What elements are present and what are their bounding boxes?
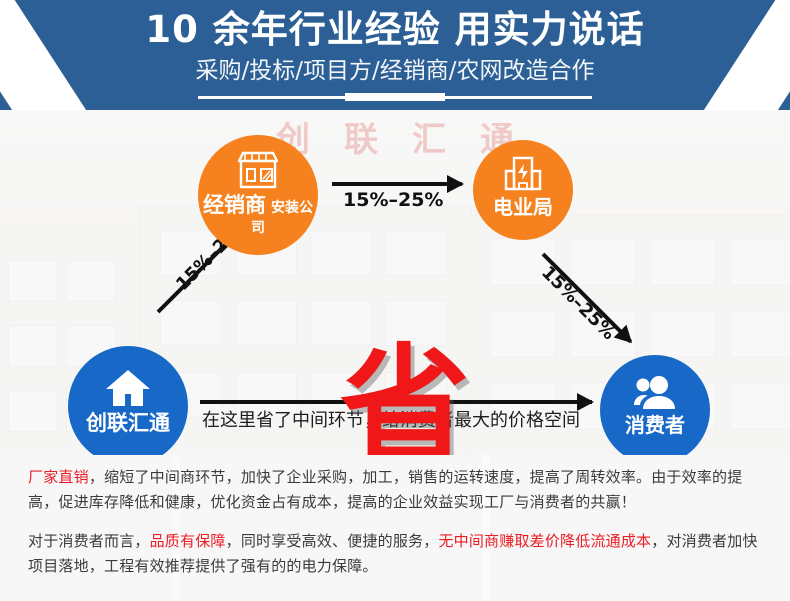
bg-window <box>235 300 297 346</box>
node-company-label: 创联汇通 <box>86 411 170 435</box>
footer-highlight-2: 品质有保障 <box>150 532 226 550</box>
bg-window <box>8 325 58 367</box>
watermark-text: 创联汇通 <box>0 112 790 161</box>
footer-paragraph-1: 厂家直销，缩短了中间商环节，加快了企业采购，加工，销售的运转速度，提高了周转效率… <box>28 455 762 515</box>
footer-highlight-3: 无中间商赚取差价降低流通成本 <box>438 532 651 550</box>
bg-window <box>490 310 556 358</box>
node-dealer[interactable]: 经销商 安装公司 <box>198 135 318 255</box>
bg-window <box>66 260 116 302</box>
banner-subtitle: 采购/投标/项目方/经销商/农网改造合作 <box>0 56 790 86</box>
banner-divider-accent <box>345 93 445 101</box>
node-bureau-label: 电业局 <box>493 195 553 219</box>
banner-divider <box>0 93 790 103</box>
home-icon <box>68 368 188 412</box>
power-building-icon <box>473 155 573 197</box>
node-company[interactable]: 创联汇通 <box>68 346 188 455</box>
node-bureau[interactable]: 电业局 <box>473 140 573 240</box>
bg-window <box>8 390 58 432</box>
bg-window <box>730 382 790 430</box>
footer-description: 厂家直销，缩短了中间商环节，加快了企业采购，加工，销售的运转速度，提高了周转效率… <box>0 455 790 601</box>
node-dealer-label: 经销商 <box>203 193 266 217</box>
bg-window <box>650 238 716 286</box>
bg-window <box>570 238 636 286</box>
promo-banner-page: 10 余年行业经验 用实力说话 采购/投标/项目方/经销商/农网改造合作 <box>0 0 790 601</box>
node-consumer[interactable]: 消费者 <box>600 355 710 455</box>
savings-character: 省 <box>325 342 485 455</box>
node-consumer-label: 消费者 <box>625 413 685 437</box>
users-icon <box>600 375 710 415</box>
bg-window <box>8 260 58 302</box>
header-banner: 10 余年行业经验 用实力说话 采购/投标/项目方/经销商/农网改造合作 <box>0 0 790 110</box>
storefront-icon <box>198 150 318 194</box>
bg-window <box>730 238 790 286</box>
arrow-label-dealer-to-bureau: 15%–25% <box>343 189 443 211</box>
bg-window <box>385 230 447 276</box>
footer-paragraph-2: 对于消费者而言，品质有保障，同时享受高效、便捷的服务，无中间商赚取差价降低流通成… <box>28 515 762 579</box>
arrow-dealer-to-bureau <box>332 182 462 186</box>
bg-window <box>310 230 372 276</box>
flow-diagram: 创联汇通 15%–25% 15%–25% 15%–25% 在这里省了中间环节，给… <box>0 110 790 455</box>
banner-title: 10 余年行业经验 用实力说话 <box>0 8 790 52</box>
bg-window <box>160 300 222 346</box>
footer-text-1: ，缩短了中间商环节，加快了企业采购，加工，销售的运转速度，提高了周转效率。由于效… <box>28 468 742 511</box>
bg-window <box>730 310 790 358</box>
footer-highlight-1: 厂家直销 <box>28 468 89 486</box>
bg-window <box>650 310 716 358</box>
footer-text-2b: ，同时享受高效、便捷的服务， <box>226 532 439 550</box>
footer-text-2a: 对于消费者而言， <box>28 532 150 550</box>
